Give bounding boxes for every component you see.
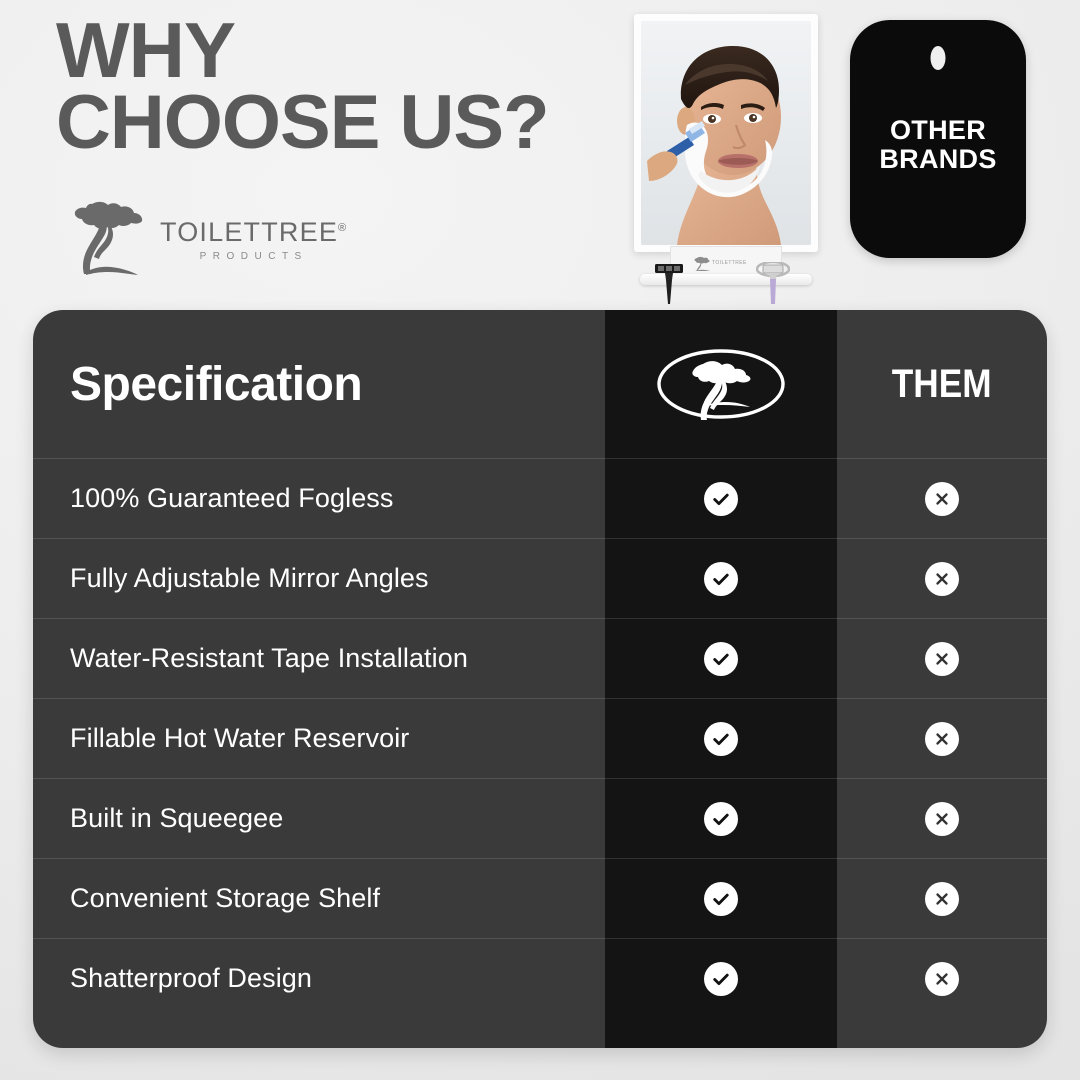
cross-icon [925,722,959,756]
them-column-header: THEM [837,310,1047,458]
spec-label: Built in Squeegee [33,803,605,834]
tag-line-2: BRANDS [879,145,996,174]
them-cell [837,859,1047,938]
spec-label: Fillable Hot Water Reservoir [33,723,605,754]
razor-icon [756,262,790,309]
us-cell [605,779,837,858]
brand-logo: TOILETTREE® PRODUCTS [62,200,347,278]
us-cell [605,539,837,618]
table-header-row: Specification THEM [33,310,1047,458]
check-icon [704,882,738,916]
them-cell [837,539,1047,618]
other-brands-tag: OTHER BRANDS [850,20,1026,258]
cross-icon [925,642,959,676]
brand-name: TOILETTREE® [160,217,347,248]
table-row: Fully Adjustable Mirror Angles [33,538,1047,618]
us-cell [605,699,837,778]
table-row: Built in Squeegee [33,778,1047,858]
check-icon [704,562,738,596]
cross-icon [925,962,959,996]
check-icon [704,802,738,836]
check-icon [704,962,738,996]
cross-icon [925,802,959,836]
them-cell [837,939,1047,1018]
table-row: Convenient Storage Shelf [33,858,1047,938]
product-photo: TOILETTREE [626,6,826,302]
razor-icon [654,264,684,309]
them-cell [837,459,1047,538]
us-cell [605,859,837,938]
spec-label: Water-Resistant Tape Installation [33,643,605,674]
spec-label: 100% Guaranteed Fogless [33,483,605,514]
us-cell [605,459,837,538]
shelf-logo-text: TOILETTREE [712,260,747,266]
product-shelf: TOILETTREE [640,246,812,298]
spec-label: Shatterproof Design [33,963,605,994]
table-row: Shatterproof Design [33,938,1047,1018]
table-row: Fillable Hot Water Reservoir [33,698,1047,778]
brand-subtitle: PRODUCTS [160,251,347,262]
page-title: WHY CHOOSE US? [56,14,616,159]
headline-line-2: CHOOSE US? [56,87,616,158]
comparison-table: Specification THEM [33,310,1047,1048]
us-column-header [605,310,837,458]
them-cell [837,619,1047,698]
table-row: Water-Resistant Tape Installation [33,618,1047,698]
table-body: Specification THEM [33,310,1047,1018]
spec-column-header: Specification [33,357,605,412]
them-label: THEM [892,362,992,407]
check-icon [704,642,738,676]
tag-line-1: OTHER [879,116,996,145]
us-cell [605,939,837,1018]
table-row: 100% Guaranteed Fogless [33,458,1047,538]
tag-hole-icon [931,46,946,70]
spec-label: Fully Adjustable Mirror Angles [33,563,605,594]
check-icon [704,722,738,756]
tree-logo-icon [62,200,154,278]
registered-mark: ® [338,222,347,234]
shelf-tree-logo-icon [692,256,710,271]
cross-icon [925,562,959,596]
them-cell [837,779,1047,858]
mirror-reflection-image [641,21,811,245]
toilettree-tree-oval-logo-icon [655,346,787,422]
spec-label: Convenient Storage Shelf [33,883,605,914]
cross-icon [925,482,959,516]
check-icon [704,482,738,516]
us-cell [605,619,837,698]
cross-icon [925,882,959,916]
them-cell [837,699,1047,778]
mirror-frame [634,14,818,252]
